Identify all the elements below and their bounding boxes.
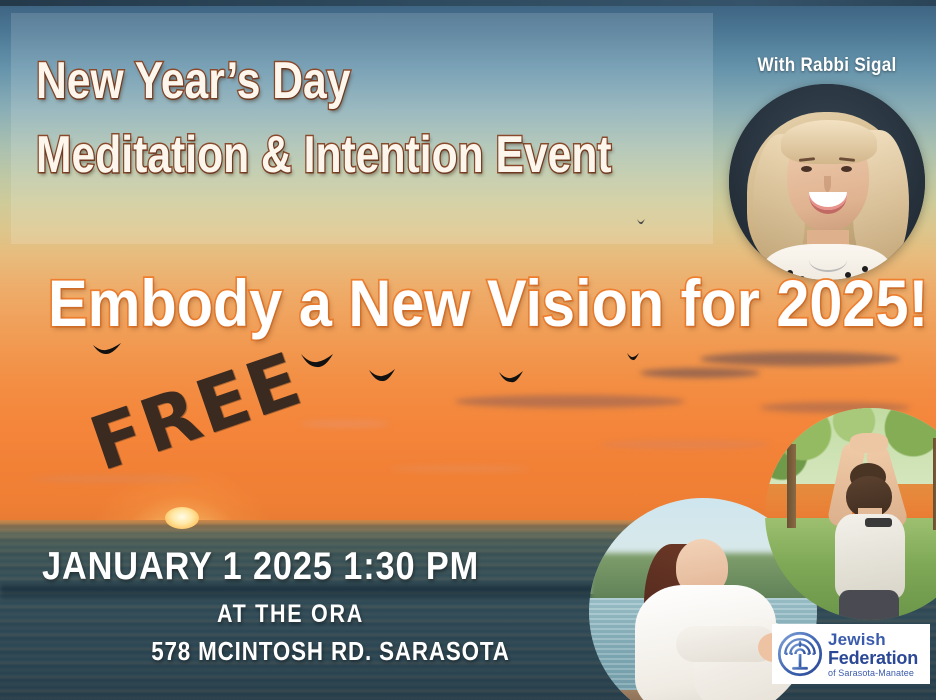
bird-silhouette-icon [92, 342, 122, 360]
logo-subtitle-text: of Sarasota-Manatee [828, 669, 918, 678]
photo-torso [835, 514, 905, 599]
portrait-eye-left [801, 166, 812, 172]
jewish-federation-logo[interactable]: Jewish Federation of Sarasota-Manatee [772, 624, 930, 684]
logo-jewish-text: Jewish [828, 631, 918, 648]
bird-silhouette-icon [300, 352, 334, 372]
main-headline: Embody a New Vision for 2025! [48, 267, 840, 339]
presenter-portrait-photo [729, 84, 925, 280]
photo-pants [839, 590, 898, 620]
cloud-shape [390, 465, 530, 472]
event-date-time: JANUARY 1 2025 1:30 PM [42, 545, 479, 589]
presenter-block: With Rabbi Sigal [727, 55, 927, 280]
portrait-eye-right [841, 166, 852, 172]
bird-silhouette-icon [626, 352, 640, 362]
event-address: 578 MCINTOSH RD. SARASOTA [151, 636, 510, 667]
logo-wordmark: Jewish Federation of Sarasota-Manatee [828, 631, 918, 678]
photo-tree-trunk [787, 444, 796, 528]
menorah-in-circle-icon [777, 631, 823, 677]
photo-hands [850, 433, 888, 452]
cloud-shape [455, 395, 685, 408]
presenter-caption: With Rabbi Sigal [737, 55, 917, 77]
cloud-shape [600, 440, 770, 449]
event-flyer: New Year’s Day Meditation & Intention Ev… [0, 0, 936, 700]
cloud-shape [640, 368, 760, 378]
top-edge-strip [0, 0, 936, 6]
sun-icon [165, 507, 199, 529]
photo-top-strap [865, 518, 893, 526]
photo-woman-stretching [765, 408, 936, 620]
cloud-shape [300, 420, 390, 428]
logo-federation-text: Federation [828, 649, 918, 667]
title-line-1: New Year’s Day [36, 44, 577, 118]
bird-silhouette-icon [498, 370, 524, 386]
title-block: New Year’s Day Meditation & Intention Ev… [36, 44, 696, 192]
portrait-nose [824, 176, 831, 192]
bird-silhouette-icon [368, 368, 396, 385]
event-venue: AT THE ORA [217, 600, 364, 629]
title-line-2: Meditation & Intention Event [36, 118, 577, 192]
cloud-shape [700, 352, 900, 366]
portrait-fringe [781, 120, 877, 164]
